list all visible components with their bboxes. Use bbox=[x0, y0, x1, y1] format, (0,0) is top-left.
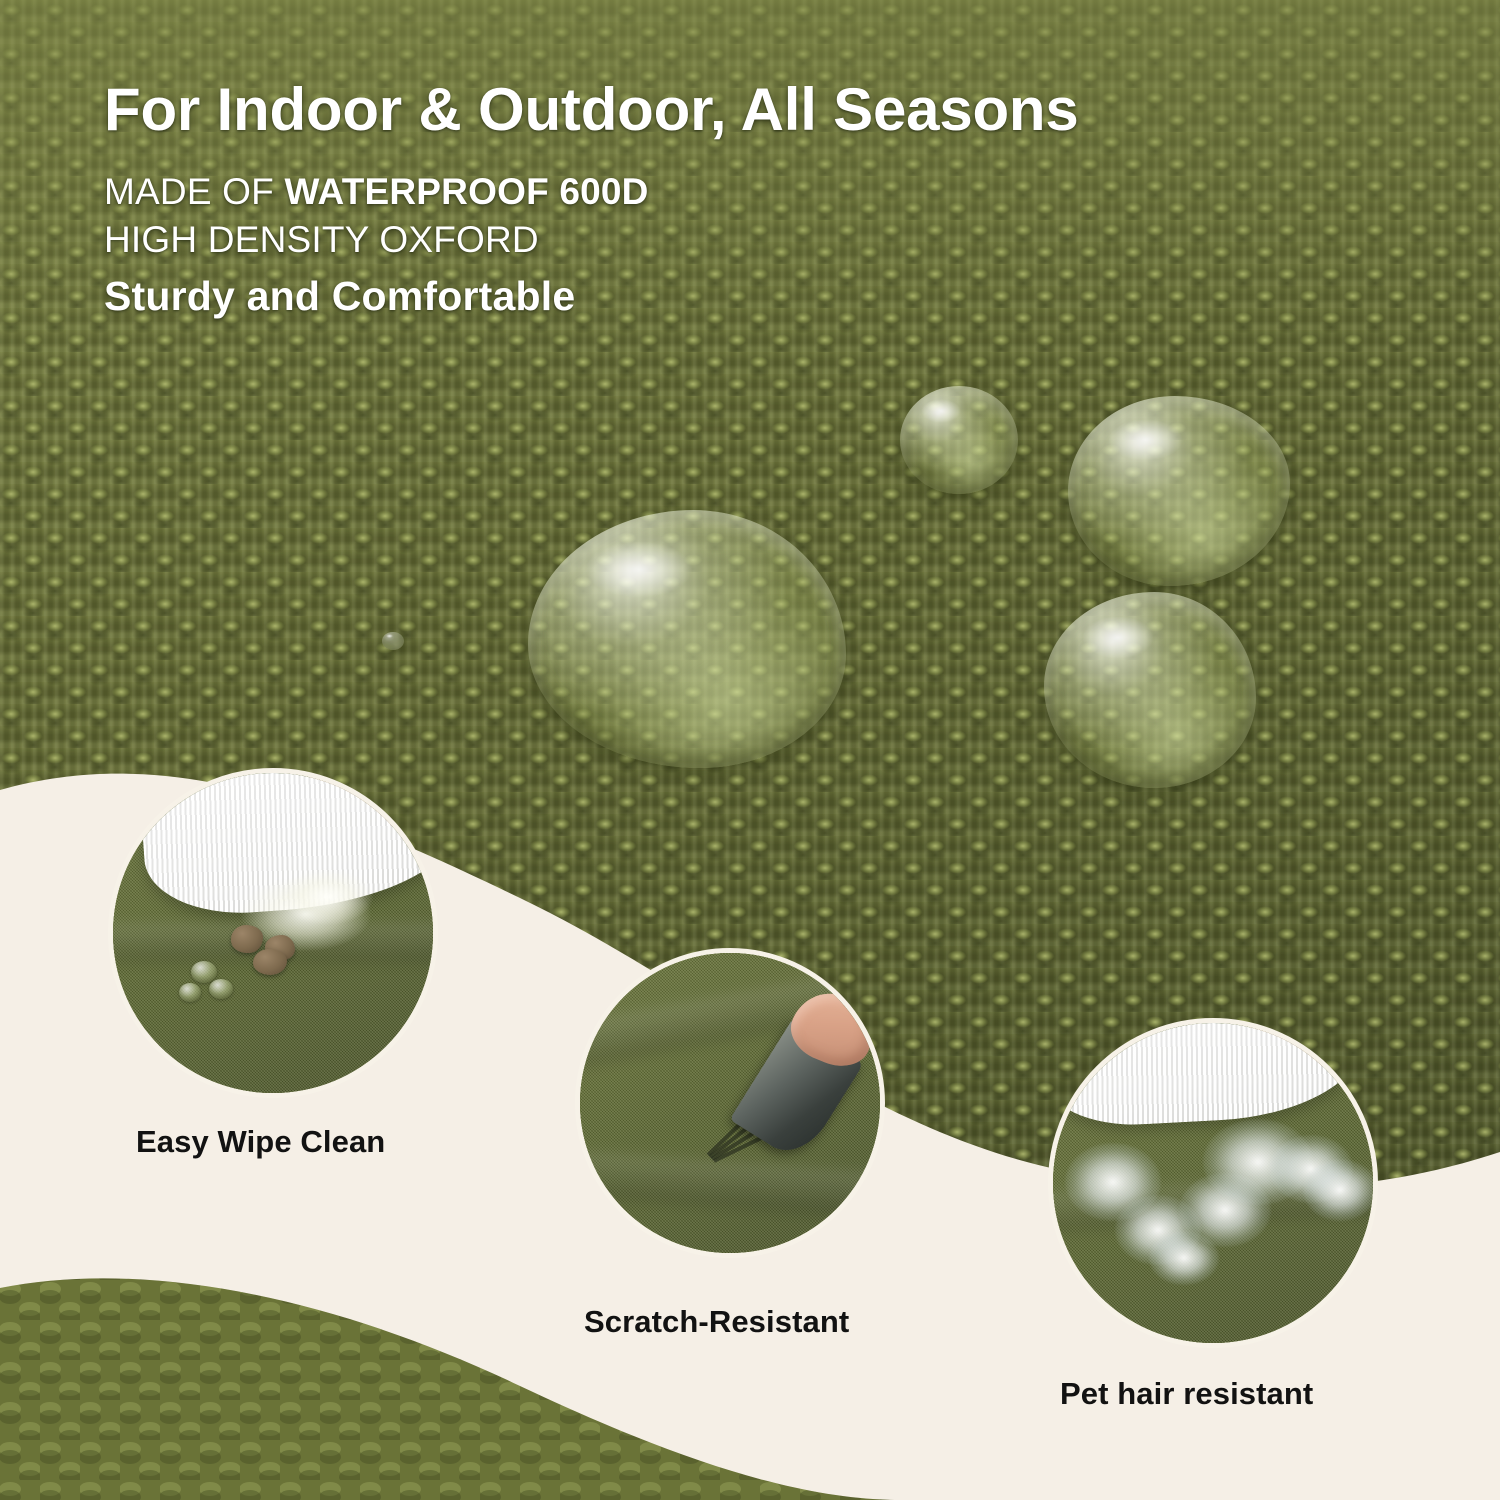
dirt-crumb-icon bbox=[231, 925, 263, 953]
product-feature-graphic: For Indoor & Outdoor, All Seasons MADE O… bbox=[0, 0, 1500, 1500]
feature-caption-easy-wipe-clean: Easy Wipe Clean bbox=[136, 1124, 385, 1160]
water-bead-icon bbox=[179, 983, 201, 1002]
water-droplet-micro bbox=[382, 632, 404, 650]
feature-caption-pet-hair-resistant: Pet hair resistant bbox=[1060, 1376, 1313, 1412]
feature-image-wipe-cloth-on-fabric-icon bbox=[108, 768, 438, 1098]
feature-caption-scratch-resistant: Scratch-Resistant bbox=[584, 1304, 849, 1340]
dirt-crumb-icon bbox=[253, 949, 287, 975]
feature-image-pet-hair-on-fabric-icon bbox=[1048, 1018, 1378, 1348]
subheading-emphasis: WATERPROOF 600D bbox=[284, 171, 648, 212]
feature-image-blade-scratching-fabric-icon bbox=[575, 948, 885, 1258]
pet-hair-clump-icon bbox=[1303, 1159, 1377, 1221]
fur-wisp-icon bbox=[281, 869, 373, 925]
pet-hair-clump-icon bbox=[1149, 1231, 1219, 1285]
water-bead-icon bbox=[191, 961, 217, 983]
water-droplet-small-top bbox=[900, 386, 1018, 494]
feature-pet-hair-resistant: Pet hair resistant bbox=[0, 0, 330, 330]
water-bead-icon bbox=[209, 979, 233, 999]
water-droplet-large-center bbox=[528, 510, 846, 768]
water-droplet-bottom-right bbox=[1044, 592, 1256, 788]
